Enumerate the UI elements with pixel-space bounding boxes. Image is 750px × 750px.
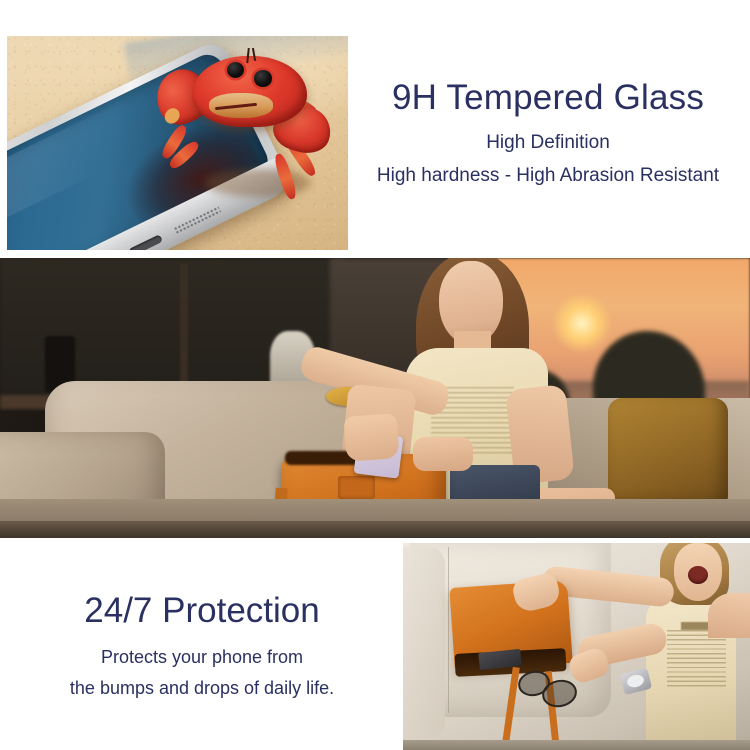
product-feature-graphic: 9H Tempered Glass High Definition High h… xyxy=(0,0,750,750)
crab-mouth xyxy=(215,102,257,109)
crab-antenna xyxy=(252,48,256,61)
spill-photo-panel xyxy=(403,543,750,750)
sofa-seam xyxy=(448,547,449,713)
woman-left-hand xyxy=(344,413,399,461)
handbag-tab xyxy=(338,476,376,498)
promo-title: 24/7 Protection xyxy=(12,592,392,631)
sofa-bolster xyxy=(403,547,445,737)
crab-subject xyxy=(143,42,348,217)
headline-title: 9H Tempered Glass xyxy=(352,78,744,117)
headline-block: 9H Tempered Glass High Definition High h… xyxy=(352,78,744,187)
crab-eye-left xyxy=(227,62,244,78)
sofa-photo-panel xyxy=(0,258,750,538)
woman-right-hand xyxy=(413,437,473,471)
woman-shoulder xyxy=(708,593,750,639)
crab-claw-tip-left xyxy=(161,105,181,126)
promo-line-1: Protects your phone from xyxy=(12,647,392,668)
crab-carapace xyxy=(192,56,307,126)
crab-face-plate xyxy=(209,93,273,118)
headline-subtitle-2: High hardness - High Abrasion Resistant xyxy=(352,165,744,187)
crab-eye-right xyxy=(254,70,271,86)
crab-photo-panel xyxy=(7,36,348,250)
promo-block: 24/7 Protection Protects your phone from… xyxy=(12,592,392,699)
headline-subtitle-1: High Definition xyxy=(352,132,744,154)
floor xyxy=(403,740,750,750)
tank-top-body-print xyxy=(667,630,726,688)
crab-antenna xyxy=(247,48,250,64)
floor xyxy=(0,521,750,538)
promo-line-2: the bumps and drops of daily life. xyxy=(12,678,392,699)
mustard-cushion xyxy=(608,398,728,510)
